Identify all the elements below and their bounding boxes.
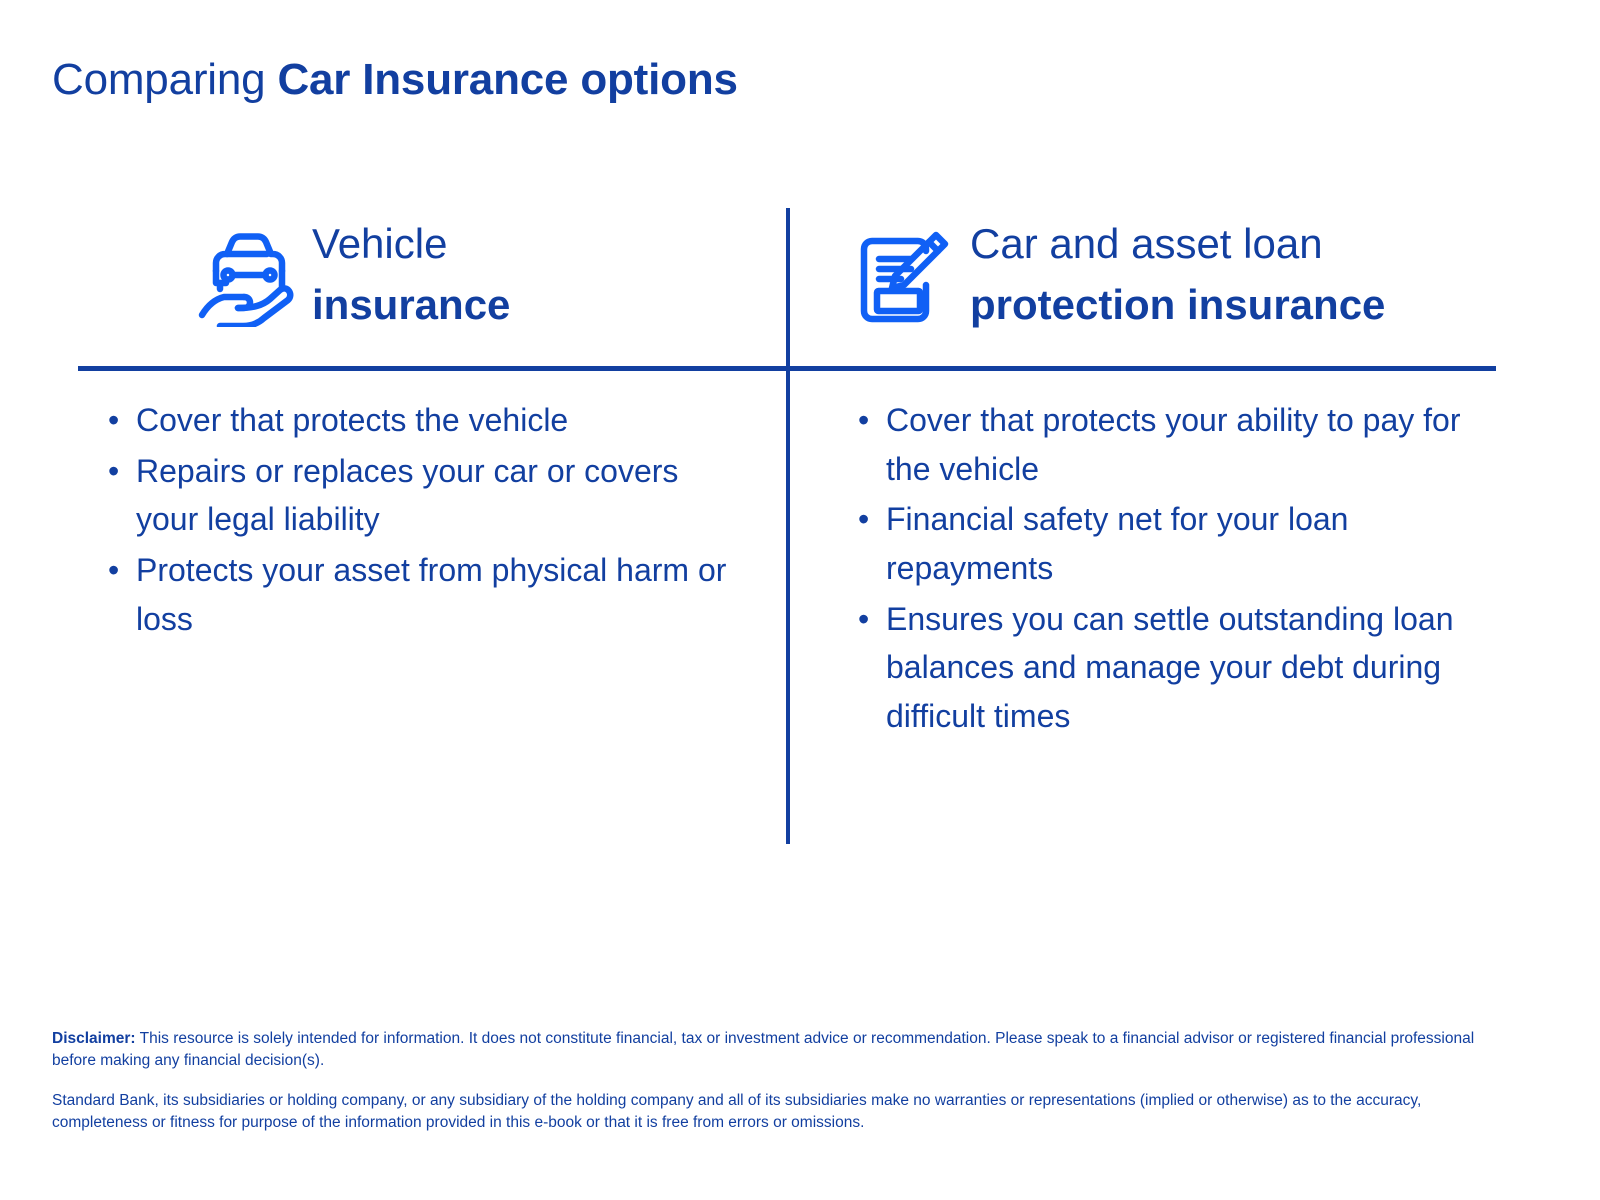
disclaimer-label: Disclaimer: [52, 1030, 136, 1047]
list-item: • Cover that protects the vehicle [98, 396, 738, 445]
column-heading-line1: Car and asset loan [970, 214, 1385, 275]
list-item-text: Cover that protects the vehicle [136, 402, 568, 438]
disclaimer: Disclaimer: This resource is solely inte… [52, 1028, 1514, 1134]
column-heading-line2: protection insurance [970, 275, 1385, 336]
column-header-vehicle-insurance: Vehicle insurance [78, 200, 756, 350]
document-pencil-icon [848, 223, 952, 327]
page-title: Comparing Car Insurance options [52, 56, 738, 104]
car-in-hand-icon [190, 223, 294, 327]
list-item: • Protects your asset from physical harm… [98, 546, 738, 643]
column-heading-line1: Vehicle [312, 214, 510, 275]
disclaimer-paragraph-2: Standard Bank, its subsidiaries or holdi… [52, 1090, 1514, 1134]
list-item: • Financial safety net for your loan rep… [848, 495, 1488, 592]
list-item-text: Protects your asset from physical harm o… [136, 552, 726, 637]
column-header-text-vehicle-insurance: Vehicle insurance [312, 214, 510, 336]
bullet-marker-icon: • [858, 396, 869, 445]
page-title-regular: Comparing [52, 55, 277, 104]
page-title-bold: Car Insurance options [277, 55, 737, 104]
disclaimer-paragraph-1: Disclaimer: This resource is solely inte… [52, 1028, 1514, 1072]
bullet-list-loan-protection-insurance: • Cover that protects your ability to pa… [848, 396, 1488, 742]
list-item-text: Ensures you can settle outstanding loan … [886, 601, 1453, 734]
column-vehicle-insurance: Vehicle insurance • Cover that protects … [78, 200, 786, 860]
list-item: • Cover that protects your ability to pa… [848, 396, 1488, 493]
column-heading-line2: insurance [312, 275, 510, 336]
list-item: • Ensures you can settle outstanding loa… [848, 595, 1488, 741]
column-divider [786, 208, 790, 844]
bullet-list-vehicle-insurance: • Cover that protects the vehicle • Repa… [98, 396, 738, 645]
column-header-loan-protection-insurance: Car and asset loan protection insurance [848, 200, 1496, 350]
column-loan-protection-insurance: Car and asset loan protection insurance … [786, 200, 1496, 860]
list-item-text: Cover that protects your ability to pay … [886, 402, 1460, 487]
bullet-marker-icon: • [108, 447, 119, 496]
disclaimer-text-1: This resource is solely intended for inf… [52, 1030, 1474, 1069]
comparison-table: Vehicle insurance • Cover that protects … [78, 200, 1496, 860]
list-item: • Repairs or replaces your car or covers… [98, 447, 738, 544]
bullet-marker-icon: • [108, 546, 119, 595]
list-item-text: Repairs or replaces your car or covers y… [136, 453, 678, 538]
bullet-marker-icon: • [858, 595, 869, 644]
bullet-marker-icon: • [108, 396, 119, 445]
column-header-text-loan-protection-insurance: Car and asset loan protection insurance [970, 214, 1385, 336]
header-divider-rule [78, 366, 1496, 371]
list-item-text: Financial safety net for your loan repay… [886, 501, 1348, 586]
bullet-marker-icon: • [858, 495, 869, 544]
